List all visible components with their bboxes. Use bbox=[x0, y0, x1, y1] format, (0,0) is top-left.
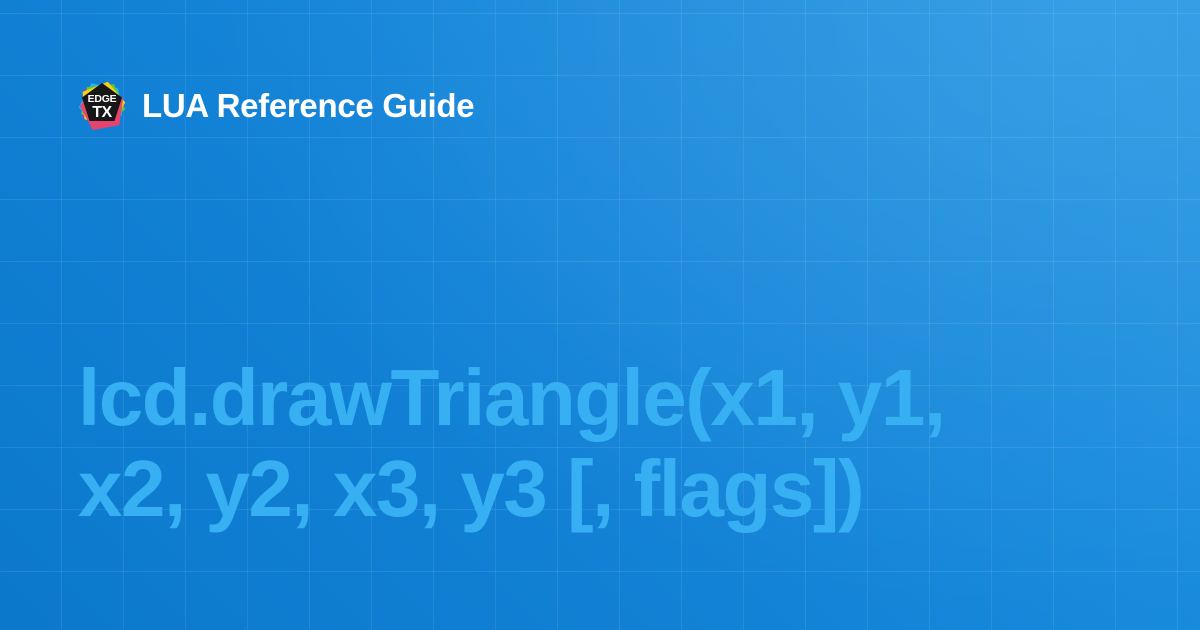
header: EDGE TX LUA Reference Guide bbox=[78, 80, 474, 130]
svg-text:TX: TX bbox=[92, 104, 112, 121]
page-title: lcd.drawTriangle(x1, y1, x2, y2, x3, y3 … bbox=[78, 352, 1128, 534]
header-title: LUA Reference Guide bbox=[142, 89, 474, 122]
page-title-line-2: x2, y2, x3, y3 [, flags]) bbox=[78, 443, 1128, 534]
page-title-line-1: lcd.drawTriangle(x1, y1, bbox=[78, 352, 1128, 443]
svg-text:EDGE: EDGE bbox=[88, 93, 117, 105]
og-card: EDGE TX LUA Reference Guide lcd.drawTria… bbox=[0, 0, 1200, 630]
edgetx-logo-icon: EDGE TX bbox=[78, 80, 126, 130]
